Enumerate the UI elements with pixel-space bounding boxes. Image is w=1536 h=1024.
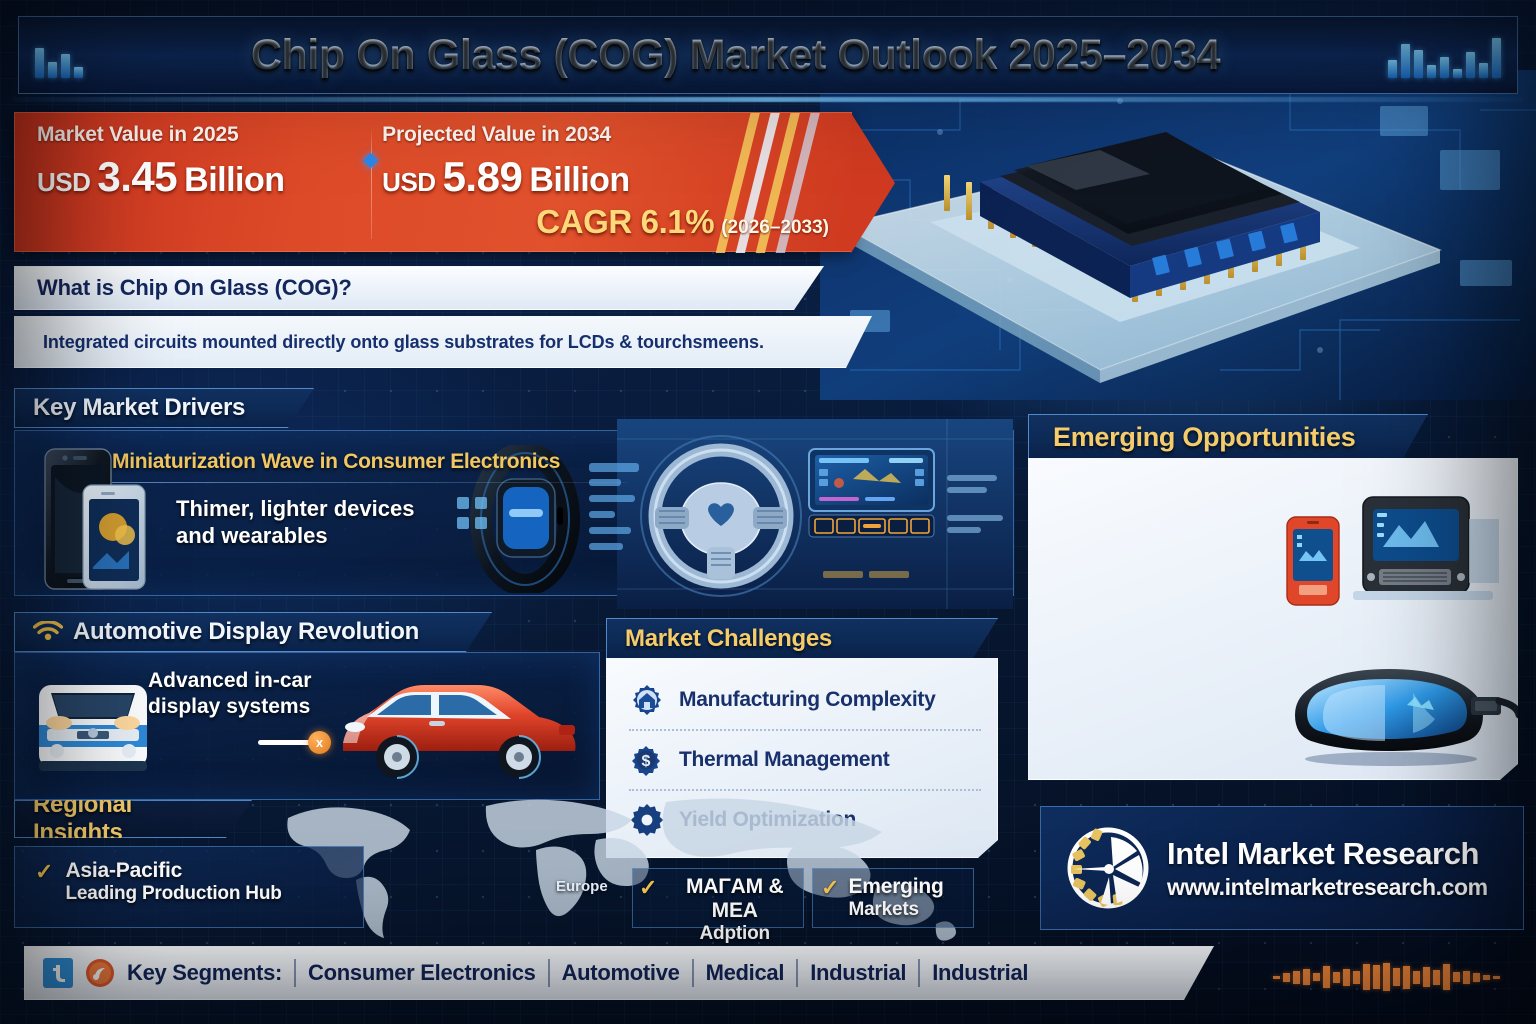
segment-industrial: Industrial	[810, 960, 906, 986]
challenge-row: $ Thermal Management	[629, 731, 981, 789]
market-challenges-header: Market Challenges	[606, 618, 998, 660]
car-dashboard-image	[617, 419, 1013, 609]
value-number: 5.89	[443, 153, 523, 201]
what-is-heading: What is Chip On Glass (COG)?	[37, 275, 352, 301]
projected-value-2034-label: Projected Value in 2034	[382, 123, 851, 147]
connector-line	[258, 740, 314, 745]
challenge-row: Manufacturing Complexity	[629, 671, 981, 729]
check-icon: ✓	[35, 859, 53, 885]
region-subtitle: Markets	[848, 899, 943, 921]
segment-divider	[548, 959, 550, 987]
driver-divider	[112, 482, 628, 483]
close-badge-icon: x	[308, 731, 331, 754]
bar-chart-icon	[35, 32, 83, 78]
emerging-opportunities-panel: ► Medical Devices · Portable Diagnositcs…	[1028, 458, 1518, 780]
segment-divider	[692, 959, 694, 987]
key-segments-footer: Key Segments: Consumer Electronics Autom…	[24, 946, 1214, 1000]
brand-panel: Intel Market Research www.intelmarketres…	[1040, 806, 1524, 930]
chip-on-circuit-board-image	[820, 70, 1536, 400]
value-unit: Billion	[529, 161, 629, 200]
currency-label: USD	[37, 167, 90, 198]
region-card-latam-mea: ✓ MAΓAM & MEA Adption	[632, 868, 804, 928]
compass-globe-logo	[1065, 825, 1151, 911]
segment-medical: Medical	[706, 960, 785, 986]
page-title: Chip On Glass (COG) Market Outlook 2025–…	[97, 31, 1374, 80]
segment-divider	[918, 959, 920, 987]
medical-monitor-image	[1279, 483, 1509, 607]
brand-website[interactable]: www.intelmarketresearch.com	[1167, 874, 1488, 901]
bar-chart-icon	[1388, 32, 1501, 78]
map-label-europe: Europe	[556, 878, 608, 895]
projected-value-2034-value: USD 5.89 Billion	[382, 153, 851, 201]
value-unit: Billion	[184, 161, 284, 200]
region-subtitle: Leading Production Hub	[65, 883, 281, 905]
projected-value-2034: Projected Value in 2034 USD 5.89 Billion…	[366, 113, 851, 251]
cagr-value: CAGR 6.1%	[536, 203, 714, 241]
rss-icon[interactable]	[85, 958, 115, 988]
banner-arrow-tip	[851, 113, 895, 253]
region-name: MAΓAM & MEA	[666, 875, 803, 923]
driver-miniaturization-title: Miniaturization Wave in Consumer Electro…	[112, 450, 632, 474]
check-icon: ✓	[821, 875, 839, 901]
cagr-block: CAGR 6.1% (2026–2033)	[382, 203, 851, 241]
check-icon: ✓	[639, 875, 657, 901]
key-market-drivers-title: Key Market Drivers	[33, 394, 245, 422]
currency-label: USD	[382, 167, 435, 198]
regional-insights-header: Regional Insights	[14, 800, 252, 838]
market-value-2025: Market Value in 2025 USD 3.45 Billion	[15, 113, 366, 251]
what-is-body-bar: Integrated circuits mounted directly ont…	[14, 316, 872, 368]
market-value-2025-label: Market Value in 2025	[37, 123, 366, 147]
segment-consumer-electronics: Consumer Electronics	[308, 960, 536, 986]
gear-dollar-icon: $	[629, 742, 665, 778]
red-sedan-image	[333, 669, 583, 785]
region-name: Asia-Pacific	[65, 859, 281, 883]
key-segments-label: Key Segments:	[127, 960, 282, 986]
key-market-drivers-header: Key Market Drivers	[14, 388, 314, 428]
market-value-banner: Market Value in 2025 USD 3.45 Billion Pr…	[14, 112, 852, 252]
ar-glasses-image	[1295, 659, 1521, 771]
segment-automotive: Automotive	[562, 960, 680, 986]
region-name: Emerging	[848, 875, 943, 899]
white-suv-image	[33, 671, 153, 781]
market-challenges-title: Market Challenges	[625, 625, 832, 653]
emerging-opportunities-title: Emerging Opportunities	[1053, 422, 1355, 453]
challenge-label: Thermal Management	[679, 748, 890, 772]
gear-home-icon	[629, 682, 665, 718]
value-number: 3.45	[97, 153, 177, 201]
segment-divider	[796, 959, 798, 987]
wifi-icon	[33, 621, 63, 643]
challenge-label: Manufacturing Complexity	[679, 688, 936, 712]
automotive-display-subtitle: Advanced in-car display systems	[148, 668, 328, 721]
region-subtitle: Adption	[666, 923, 803, 945]
market-value-2025-value: USD 3.45 Billion	[37, 153, 366, 201]
twitter-icon[interactable]	[43, 958, 73, 988]
row-separator	[629, 729, 981, 731]
what-is-description: Integrated circuits mounted directly ont…	[43, 332, 764, 353]
automotive-display-header: Automotive Display Revolution	[14, 612, 492, 652]
cagr-period: (2026–2033)	[721, 217, 829, 239]
automotive-display-title: Automotive Display Revolution	[73, 618, 419, 646]
driver-miniaturization-subtitle: Thimer, lighter devices and wearables	[176, 496, 446, 550]
region-card-asia-pacific: ✓ Asia-Pacific Leading Production Hub	[14, 846, 364, 928]
brand-name: Intel Market Research	[1167, 836, 1488, 872]
region-card-emerging-markets: ✓ Emerging Markets	[812, 868, 974, 928]
segment-industrial-2: Industrial	[932, 960, 1028, 986]
what-is-heading-bar: What is Chip On Glass (COG)?	[14, 266, 824, 310]
row-separator	[629, 789, 981, 791]
segment-divider	[294, 959, 296, 987]
svg-text:$: $	[642, 753, 651, 770]
footer-bar-chart-icon	[1273, 962, 1500, 992]
header-bar: Chip On Glass (COG) Market Outlook 2025–…	[18, 16, 1518, 94]
emerging-opportunities-header: Emerging Opportunities	[1028, 414, 1428, 460]
